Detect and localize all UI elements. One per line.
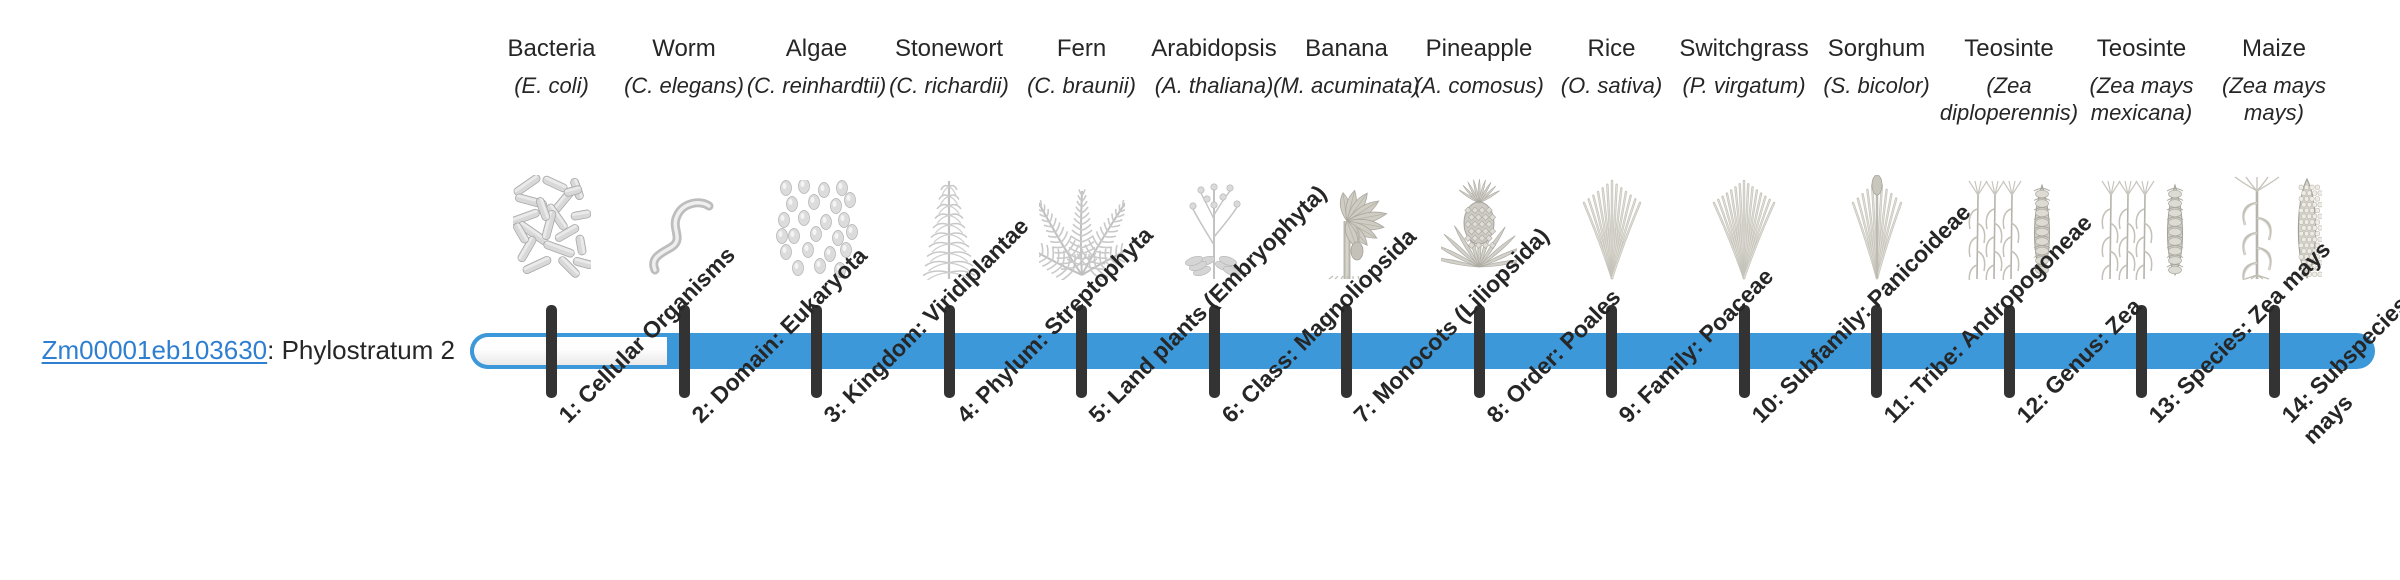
species-common-name: Maize xyxy=(2199,34,2349,64)
species-common-name: Pineapple xyxy=(1404,34,1554,64)
species-latin-name: (S. bicolor) xyxy=(1802,72,1952,99)
rank-number: 13: xyxy=(2143,386,2185,428)
species-column-sorghum: Sorghum(S. bicolor) xyxy=(1802,34,1952,99)
species-column-worm: Worm(C. elegans) xyxy=(609,34,759,99)
species-column-rice: Rice(O. sativa) xyxy=(1537,34,1687,99)
species-latin-name: (Zea diploperennis) xyxy=(1934,72,2084,126)
species-latin-name: (Zea mays mays) xyxy=(2199,72,2349,126)
species-column-maize: Maize(Zea mays mays) xyxy=(2199,34,2349,126)
phylostratum-figure: Zm00001eb103630: Phylostratum 2 Bacteria… xyxy=(0,0,2400,580)
species-column-teosinte: Teosinte(Zea mays mexicana) xyxy=(2067,34,2217,126)
rank-number: 11: xyxy=(1878,387,1919,428)
species-common-name: Rice xyxy=(1537,34,1687,64)
tick-1 xyxy=(546,305,557,398)
species-latin-name: (C. elegans) xyxy=(609,72,759,99)
species-common-name: Switchgrass xyxy=(1669,34,1819,64)
species-column-pineapple: Pineapple(A. comosus) xyxy=(1404,34,1554,99)
species-latin-name: (C. richardii) xyxy=(874,72,1024,99)
bacteria-icon xyxy=(492,168,612,280)
rank-number: 12: xyxy=(2011,386,2053,428)
rank-number: 8: xyxy=(1481,395,1514,428)
species-common-name: Fern xyxy=(1007,34,1157,64)
species-latin-name: (E. coli) xyxy=(477,72,627,99)
rank-number: 4: xyxy=(951,395,984,428)
species-column-fern: Fern(C. braunii) xyxy=(1007,34,1157,99)
species-latin-name: (C. reinhardtii) xyxy=(742,72,892,99)
gene-id-link[interactable]: Zm00001eb103630 xyxy=(42,335,268,365)
rank-number: 10: xyxy=(1746,386,1788,428)
rank-number: 6: xyxy=(1216,395,1249,428)
species-common-name: Algae xyxy=(742,34,892,64)
species-common-name: Bacteria xyxy=(477,34,627,64)
species-common-name: Worm xyxy=(609,34,759,64)
species-common-name: Teosinte xyxy=(1934,34,2084,64)
species-latin-name: (C. braunii) xyxy=(1007,72,1157,99)
species-common-name: Banana xyxy=(1272,34,1422,64)
species-column-bacteria: Bacteria(E. coli) xyxy=(477,34,627,99)
species-column-algae: Algae(C. reinhardtii) xyxy=(742,34,892,99)
species-column-arabidopsis: Arabidopsis(A. thaliana) xyxy=(1139,34,1289,99)
rank-number: 2: xyxy=(686,395,719,428)
species-common-name: Arabidopsis xyxy=(1139,34,1289,64)
species-latin-name: (A. comosus) xyxy=(1404,72,1554,99)
gene-phylostratum-label: Zm00001eb103630: Phylostratum 2 xyxy=(0,334,455,366)
species-latin-name: (M. acuminata) xyxy=(1272,72,1422,99)
species-latin-name: (O. sativa) xyxy=(1537,72,1687,99)
species-common-name: Stonewort xyxy=(874,34,1024,64)
species-latin-name: (A. thaliana) xyxy=(1139,72,1289,99)
species-latin-name: (Zea mays mexicana) xyxy=(2067,72,2217,126)
species-common-name: Teosinte xyxy=(2067,34,2217,64)
gene-phylostratum-text: : Phylostratum 2 xyxy=(267,335,455,365)
species-column-teosinte: Teosinte(Zea diploperennis) xyxy=(1934,34,2084,126)
species-common-name: Sorghum xyxy=(1802,34,1952,64)
species-column-stonewort: Stonewort(C. richardii) xyxy=(874,34,1024,99)
species-column-banana: Banana(M. acuminata) xyxy=(1272,34,1422,99)
species-latin-name: (P. virgatum) xyxy=(1669,72,1819,99)
species-column-switchgrass: Switchgrass(P. virgatum) xyxy=(1669,34,1819,99)
